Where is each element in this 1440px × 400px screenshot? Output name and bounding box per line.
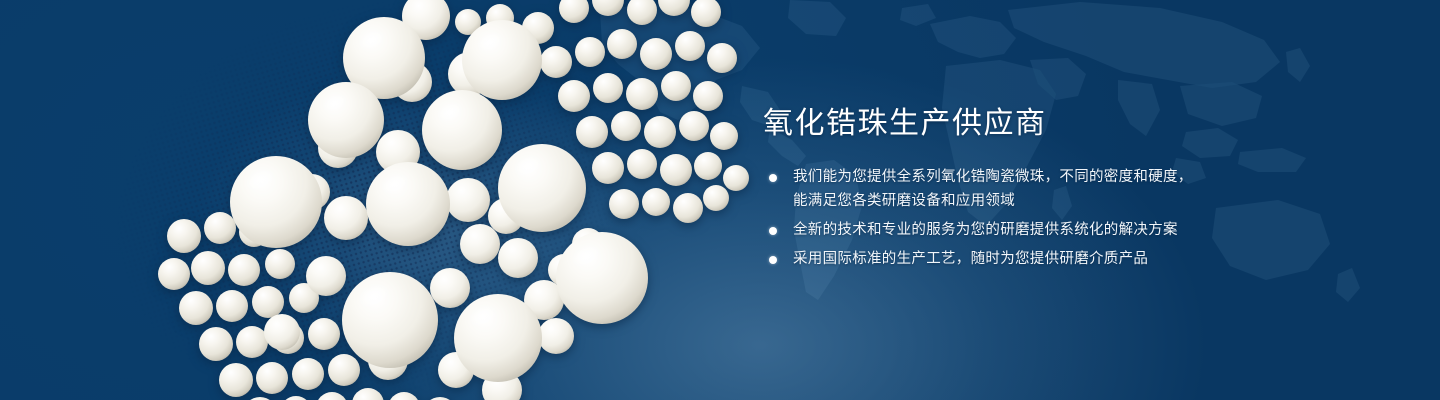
bullet-line: 我们能为您提供全系列氧化锆陶瓷微珠，不同的密度和硬度， bbox=[793, 166, 1323, 189]
feature-bullet-list: 我们能为您提供全系列氧化锆陶瓷微珠，不同的密度和硬度， 能满足您各类研磨设备和应… bbox=[763, 166, 1323, 271]
bullet-line: 全新的技术和专业的服务为您的研磨提供系统化的解决方案 bbox=[793, 219, 1323, 242]
list-item: 全新的技术和专业的服务为您的研磨提供系统化的解决方案 bbox=[763, 219, 1323, 242]
hero-banner: 氧化锆珠生产供应商 我们能为您提供全系列氧化锆陶瓷微珠，不同的密度和硬度， 能满… bbox=[0, 0, 1440, 400]
list-item: 我们能为您提供全系列氧化锆陶瓷微珠，不同的密度和硬度， 能满足您各类研磨设备和应… bbox=[763, 166, 1323, 213]
bullet-line: 能满足您各类研磨设备和应用领域 bbox=[793, 190, 1323, 213]
list-item: 采用国际标准的生产工艺，随时为您提供研磨介质产品 bbox=[763, 248, 1323, 271]
page-title: 氧化锆珠生产供应商 bbox=[763, 104, 1323, 144]
bullet-dot-icon bbox=[769, 227, 777, 235]
bullet-dot-icon bbox=[769, 256, 777, 264]
bullet-line: 采用国际标准的生产工艺，随时为您提供研磨介质产品 bbox=[793, 248, 1323, 271]
bullet-dot-icon bbox=[769, 174, 777, 182]
banner-copy: 氧化锆珠生产供应商 我们能为您提供全系列氧化锆陶瓷微珠，不同的密度和硬度， 能满… bbox=[763, 104, 1323, 271]
